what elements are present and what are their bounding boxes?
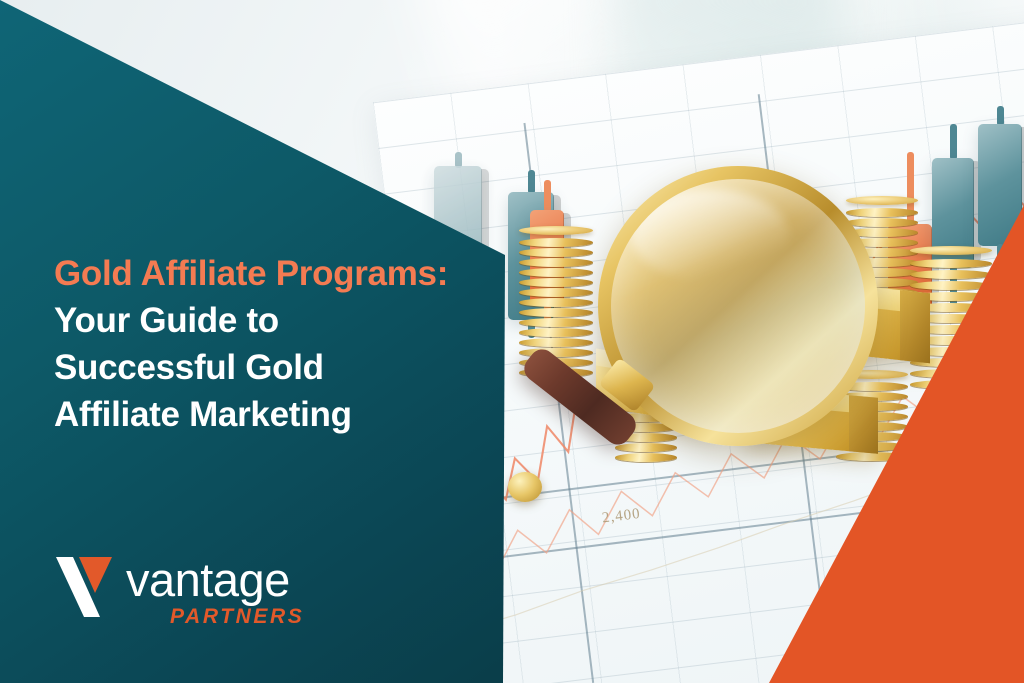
vantage-v-mark-icon	[54, 551, 114, 623]
headline-line-3: Successful Gold	[54, 344, 484, 391]
logo-wordmark: vantage	[126, 557, 304, 603]
marketing-banner: 2,400	[0, 0, 1024, 683]
headline-line-2: Your Guide to	[54, 297, 484, 344]
page-title: Gold Affiliate Programs: Your Guide to S…	[54, 250, 484, 438]
logo-subtitle: PARTNERS	[170, 605, 304, 628]
vantage-partners-logo: vantage PARTNERS	[54, 551, 304, 628]
headline-line-1: Gold Affiliate Programs:	[54, 250, 484, 297]
magnifier-end-cap	[508, 472, 542, 502]
headline-line-4: Affiliate Marketing	[54, 391, 484, 438]
